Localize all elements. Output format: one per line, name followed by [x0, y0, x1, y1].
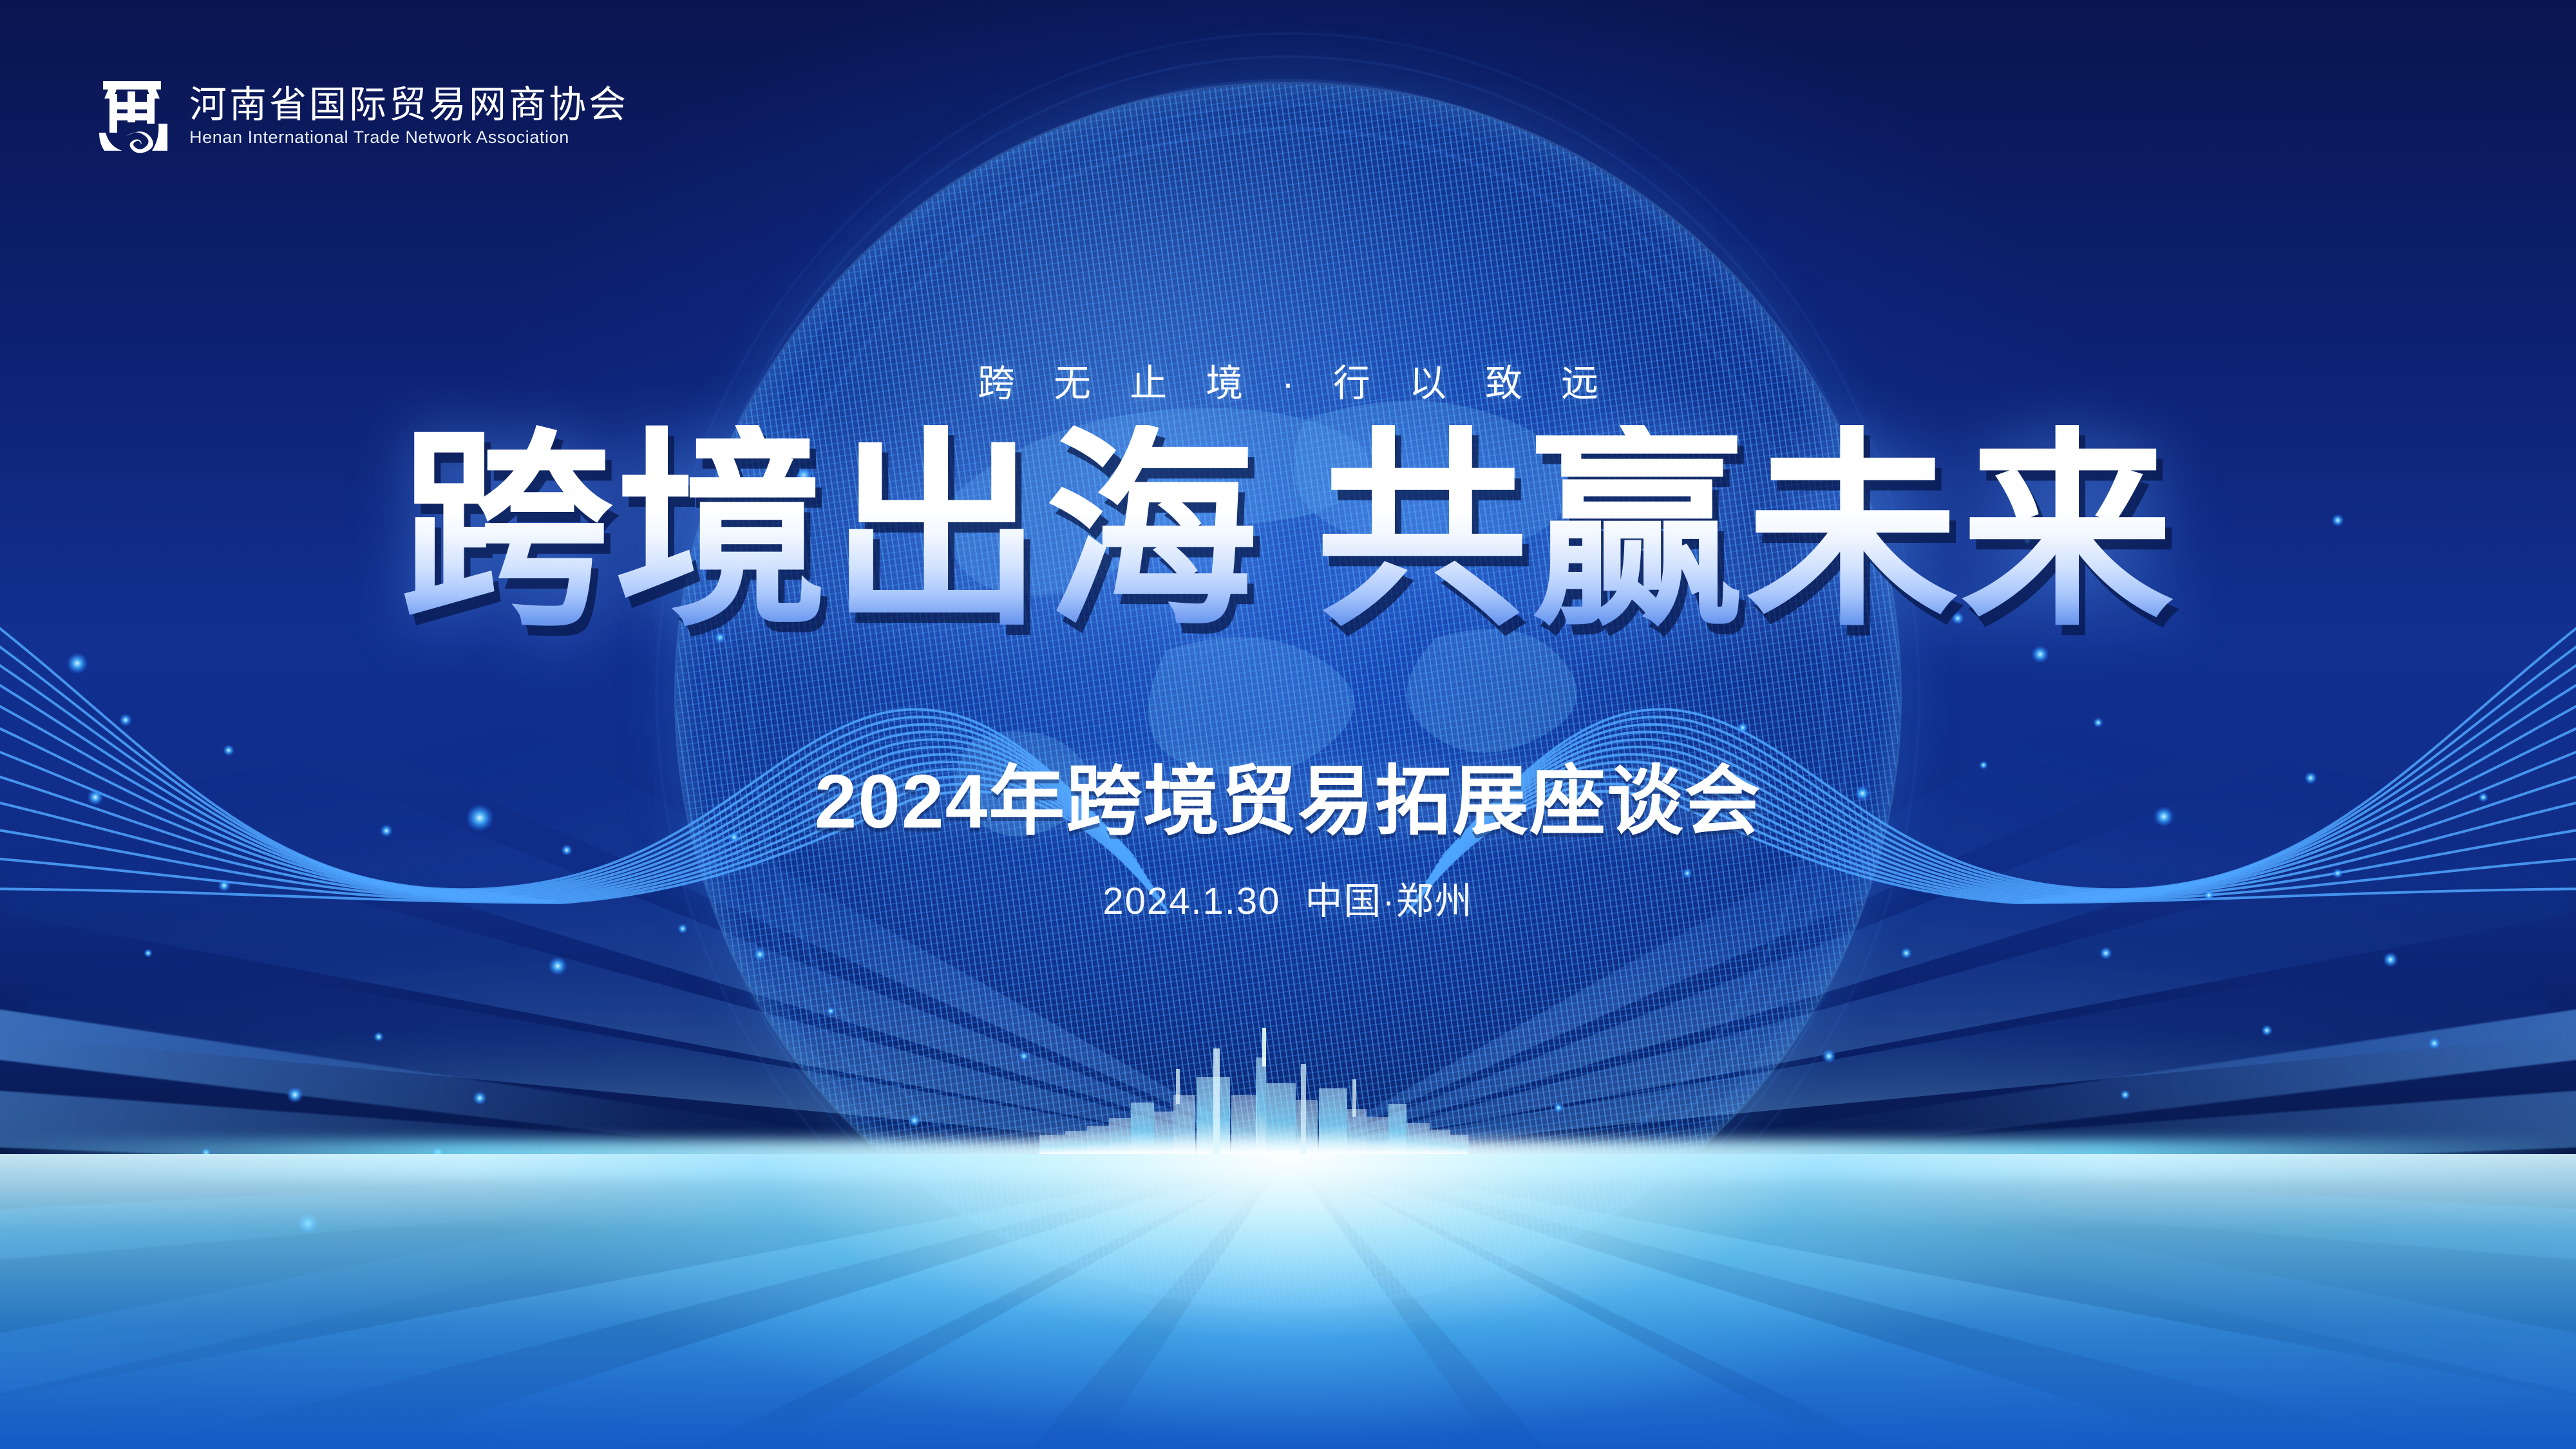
poster-canvas: 河南省国际贸易网商协会 Henan International Trade Ne…: [0, 0, 2576, 1449]
henan-seal-emblem-icon: [97, 77, 167, 155]
logo-english-name: Henan International Trade Network Associ…: [189, 128, 629, 146]
event-location: 中国·郑州: [1305, 880, 1473, 922]
event-meta: 2024.1.30中国·郑州: [0, 871, 2576, 925]
page-title: 跨境出海共赢未来: [0, 425, 2576, 638]
title-part-1: 跨境出海: [400, 425, 1260, 638]
title-part-2: 共赢未来: [1316, 425, 2176, 638]
tagline: 跨 无 止 境 · 行 以 致 远: [0, 353, 2576, 407]
logo-chinese-name: 河南省国际贸易网商协会: [189, 86, 629, 124]
event-subtitle: 2024年跨境贸易拓展座谈会: [0, 739, 2576, 849]
event-date: 2024.1.30: [1103, 880, 1280, 922]
association-logo: 河南省国际贸易网商协会 Henan International Trade Ne…: [97, 77, 629, 155]
